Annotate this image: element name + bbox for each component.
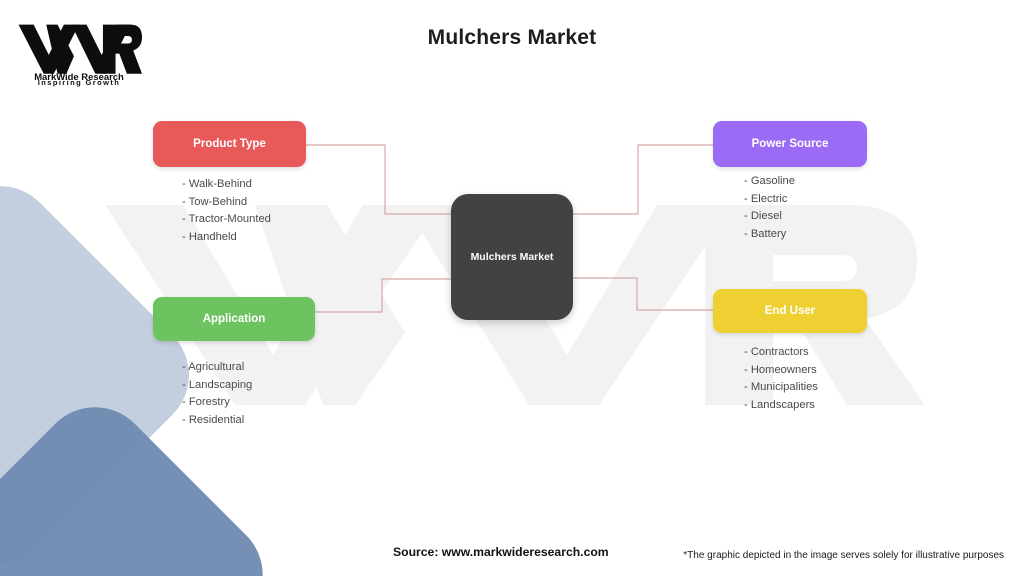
list-item: - Agricultural	[182, 359, 252, 377]
list-item: - Homeowners	[744, 362, 818, 380]
list-item: - Gasoline	[744, 173, 795, 191]
branch-node-product-type[interactable]: Product Type	[153, 121, 306, 167]
item-list-product-type: - Walk-Behind - Tow-Behind - Tractor-Mou…	[182, 176, 271, 246]
branch-node-application[interactable]: Application	[153, 297, 315, 341]
item-list-power-source: - Gasoline - Electric - Diesel - Battery	[744, 173, 795, 243]
disclaimer-note: *The graphic depicted in the image serve…	[683, 550, 1004, 561]
branch-node-end-user[interactable]: End User	[713, 289, 867, 333]
item-list-application: - Agricultural - Landscaping - Forestry …	[182, 359, 252, 429]
list-item: - Electric	[744, 191, 795, 209]
list-item: - Walk-Behind	[182, 176, 271, 194]
source-label: Source: www.markwideresearch.com	[393, 545, 609, 559]
list-item: - Diesel	[744, 208, 795, 226]
list-item: - Residential	[182, 412, 252, 430]
connector-product-type	[306, 145, 452, 214]
list-item: - Handheld	[182, 229, 271, 247]
page-title: Mulchers Market	[0, 26, 1024, 50]
list-item: - Municipalities	[744, 379, 818, 397]
item-list-end-user: - Contractors - Homeowners - Municipalit…	[744, 344, 818, 414]
list-item: - Battery	[744, 226, 795, 244]
infographic-canvas: MarkWide Research Inspiring Growth Mulch…	[0, 0, 1024, 576]
list-item: - Contractors	[744, 344, 818, 362]
list-item: - Landscapers	[744, 397, 818, 415]
logo-tagline: Inspiring Growth	[16, 78, 142, 87]
connector-power-source	[572, 145, 713, 214]
hub-node: Mulchers Market	[451, 194, 573, 320]
list-item: - Tractor-Mounted	[182, 211, 271, 229]
list-item: - Landscaping	[182, 377, 252, 395]
list-item: - Tow-Behind	[182, 194, 271, 212]
branch-node-power-source[interactable]: Power Source	[713, 121, 867, 167]
list-item: - Forestry	[182, 394, 252, 412]
